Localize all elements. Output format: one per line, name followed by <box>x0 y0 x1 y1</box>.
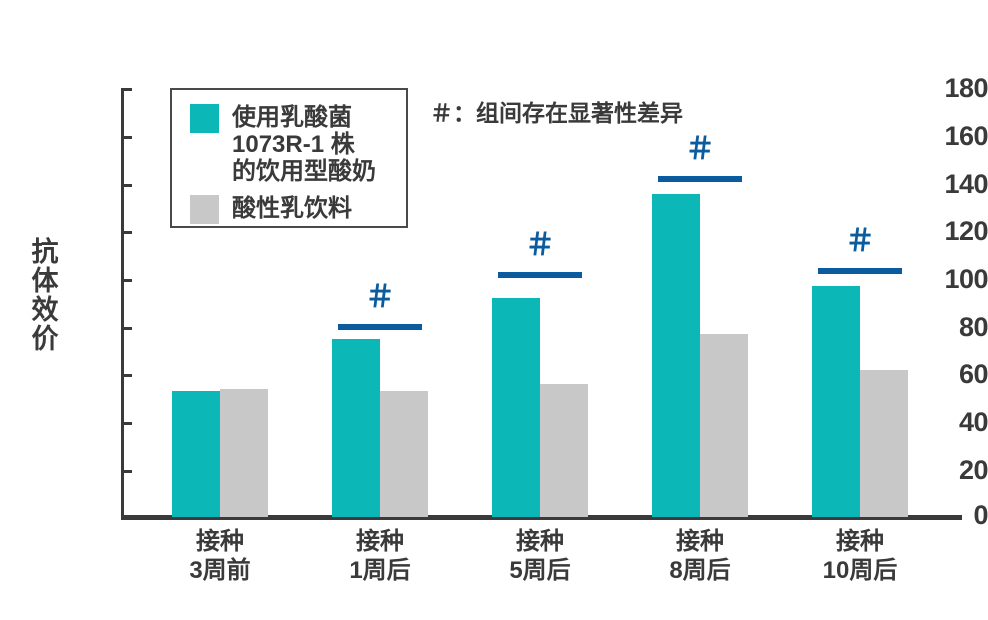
y-tick-label-100: 100 <box>930 266 988 293</box>
y-tick-180 <box>122 88 132 91</box>
x-axis-group-label-2: 接种 1周后 <box>290 527 470 586</box>
legend-box: 使用乳酸菌 1073R-1 株 的饮用型酸奶 酸性乳饮料 <box>170 88 408 228</box>
bar-gray-2 <box>380 391 428 517</box>
legend-item-yogurt: 使用乳酸菌 1073R-1 株 的饮用型酸奶 <box>190 104 376 185</box>
y-tick-40 <box>122 422 132 425</box>
y-axis-line <box>121 88 124 518</box>
legend-swatch-gray-icon <box>190 195 219 224</box>
significance-hash-3: ＃ <box>500 231 580 261</box>
y-tick-100 <box>122 279 132 282</box>
y-tick-label-140: 140 <box>930 171 988 198</box>
significance-line-4 <box>658 176 742 182</box>
y-tick-20 <box>122 470 132 473</box>
x-label-line2: 1周后 <box>290 556 470 585</box>
y-tick-120 <box>122 231 132 234</box>
y-axis-title: 抗体效价 <box>24 238 66 355</box>
y-tick-140 <box>122 184 132 187</box>
bar-gray-4 <box>700 334 748 517</box>
bar-teal-5 <box>812 286 860 517</box>
legend-label-yogurt: 使用乳酸菌 1073R-1 株 的饮用型酸奶 <box>232 104 376 185</box>
bar-teal-1 <box>172 391 220 517</box>
y-tick-label-60: 60 <box>930 361 988 388</box>
significance-hash-4: ＃ <box>660 135 740 165</box>
x-axis-group-label-5: 接种 10周后 <box>770 527 950 586</box>
bar-teal-4 <box>652 194 700 517</box>
bar-teal-3 <box>492 298 540 517</box>
y-tick-160 <box>122 136 132 139</box>
legend-label-acidic-drink: 酸性乳饮料 <box>232 195 352 222</box>
legend-item-acidic-drink: 酸性乳饮料 <box>190 195 352 224</box>
x-label-line2: 8周后 <box>610 556 790 585</box>
x-axis-group-label-3: 接种 5周后 <box>450 527 630 586</box>
bar-gray-3 <box>540 384 588 517</box>
y-tick-label-40: 40 <box>930 409 988 436</box>
significance-note: ＃：组间存在显著性差异 <box>430 94 683 128</box>
bar-gray-5 <box>860 370 908 517</box>
y-tick-label-120: 120 <box>930 218 988 245</box>
bar-teal-2 <box>332 339 380 517</box>
significance-line-2 <box>338 324 422 330</box>
x-label-line2: 3周前 <box>130 556 310 585</box>
x-axis-group-label-4: 接种 8周后 <box>610 527 790 586</box>
x-label-line2: 5周后 <box>450 556 630 585</box>
x-label-line1: 接种 <box>610 527 790 556</box>
significance-line-3 <box>498 272 582 278</box>
y-tick-label-180: 180 <box>930 75 988 102</box>
significance-line-5 <box>818 268 902 274</box>
y-tick-label-20: 20 <box>930 457 988 484</box>
y-tick-label-80: 80 <box>930 314 988 341</box>
x-axis-group-label-1: 接种 3周前 <box>130 527 310 586</box>
x-label-line2: 10周后 <box>770 556 950 585</box>
x-label-line1: 接种 <box>290 527 470 556</box>
x-label-line1: 接种 <box>450 527 630 556</box>
antibody-titer-bar-chart: 抗体效价 180 160 140 120 100 80 60 40 20 0 接… <box>0 0 988 620</box>
bar-gray-1 <box>220 389 268 517</box>
y-tick-60 <box>122 374 132 377</box>
y-tick-80 <box>122 327 132 330</box>
legend-swatch-teal-icon <box>190 104 219 133</box>
y-tick-label-160: 160 <box>930 123 988 150</box>
significance-hash-2: ＃ <box>340 283 420 313</box>
significance-hash-5: ＃ <box>820 227 900 257</box>
x-label-line1: 接种 <box>770 527 950 556</box>
x-label-line1: 接种 <box>130 527 310 556</box>
